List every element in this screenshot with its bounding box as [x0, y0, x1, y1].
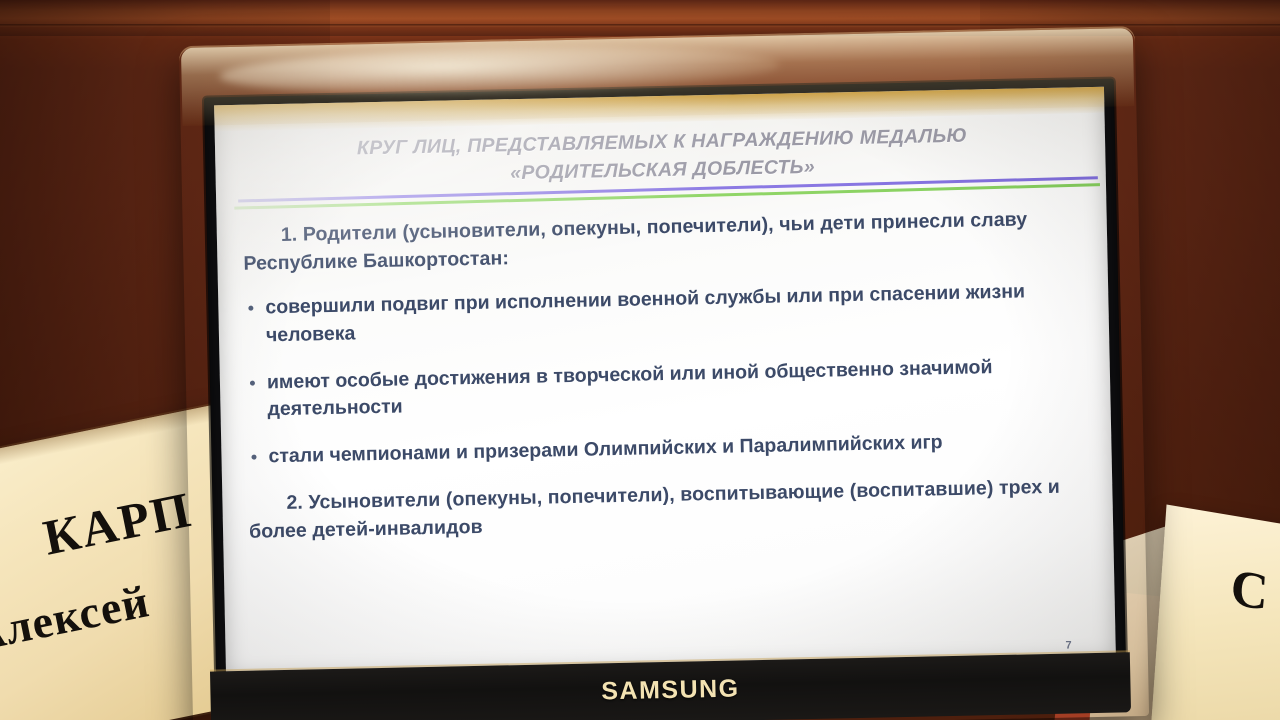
- placard-surname: КАРП: [38, 480, 196, 567]
- samsung-brand-logo: SAMSUNG: [210, 666, 1130, 714]
- photo-scene: КАРП Алексей С КРУГ ЛИЦ, ПРЕДСТАВЛЯЕМЫХ …: [0, 0, 1280, 720]
- presentation-slide: КРУГ ЛИЦ, ПРЕДСТАВЛЯЕМЫХ К НАГРАЖДЕНИЮ М…: [214, 87, 1116, 680]
- slide-paragraph-2: 2. Усыновители (опекуны, попечители), во…: [248, 473, 1087, 546]
- samsung-monitor: КРУГ ЛИЦ, ПРЕДСТАВЛЯЕМЫХ К НАГРАЖДЕНИЮ М…: [179, 26, 1149, 720]
- slide-bullet-text: совершили подвиг при исполнении военной …: [265, 278, 1083, 350]
- slide-bullet-item: совершили подвиг при исполнении военной …: [244, 278, 1083, 351]
- monitor-screen: КРУГ ЛИЦ, ПРЕДСТАВЛЯЕМЫХ К НАГРАЖДЕНИЮ М…: [214, 87, 1116, 680]
- slide-bullet-item: имеют особые достижения в творческой или…: [246, 352, 1085, 425]
- slide-paragraph-1: 1. Родители (усыновители, опекуны, попеч…: [243, 205, 1082, 278]
- bullet-dot-icon: [251, 455, 256, 460]
- slide-page-number: 7: [1065, 640, 1071, 652]
- slide-bullet-text: стали чемпионами и призерами Олимпийских…: [268, 429, 943, 471]
- placard-given-name: Алексей: [0, 574, 154, 662]
- placard-right-letter: С: [1229, 558, 1270, 623]
- bullet-dot-icon: [250, 380, 255, 385]
- name-placard-right: С: [1151, 505, 1280, 720]
- slide-bullet-text: имеют особые достижения в творческой или…: [267, 352, 1085, 424]
- bullet-dot-icon: [248, 306, 253, 311]
- slide-body: 1. Родители (усыновители, опекуны, попеч…: [243, 205, 1088, 563]
- slide-bullet-item: стали чемпионами и призерами Олимпийских…: [247, 426, 1085, 471]
